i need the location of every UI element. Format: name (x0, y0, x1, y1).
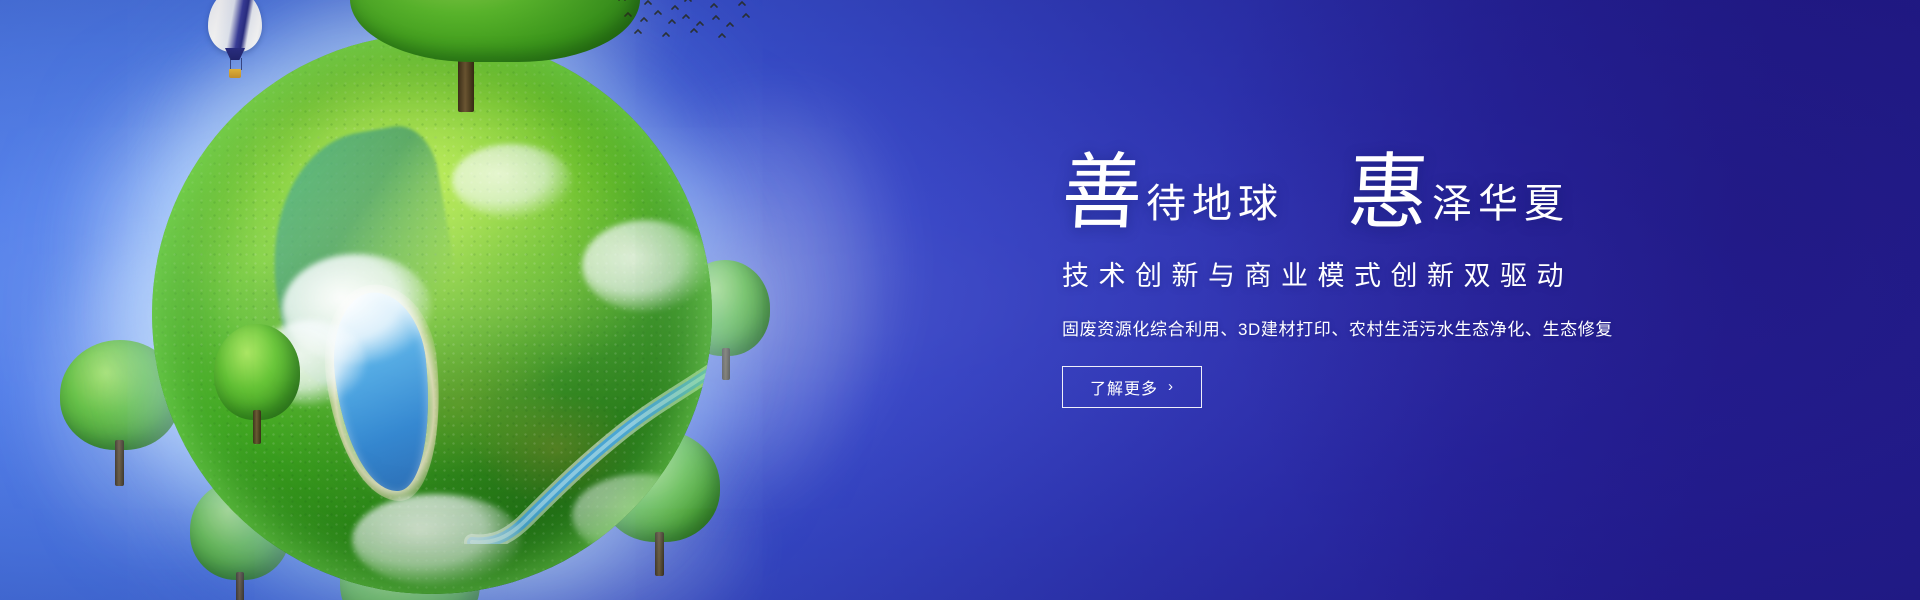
headline: 善 待地球 惠 泽华夏 (1062, 140, 1782, 232)
learn-more-label: 了解更多 (1090, 375, 1158, 399)
learn-more-button[interactable]: 了解更多 › (1062, 366, 1202, 408)
headline-char-hui: 惠 (1346, 157, 1430, 234)
chevron-right-icon: › (1168, 379, 1174, 394)
hero-banner: 善 待地球 惠 泽华夏 技术创新与商业模式创新双驱动 固废资源化综合利用、3D建… (0, 0, 1920, 600)
headline-char-shan: 善 (1060, 157, 1144, 234)
description: 固废资源化综合利用、3D建材打印、农村生活污水生态净化、生态修复 (1062, 315, 1782, 340)
hero-content: 善 待地球 惠 泽华夏 技术创新与商业模式创新双驱动 固废资源化综合利用、3D建… (1062, 140, 1782, 408)
headline-text-daidiqiu: 待地球 (1146, 184, 1284, 232)
subtitle: 技术创新与商业模式创新双驱动 (1062, 254, 1782, 293)
headline-text-zehuaxia: 泽华夏 (1432, 184, 1570, 232)
